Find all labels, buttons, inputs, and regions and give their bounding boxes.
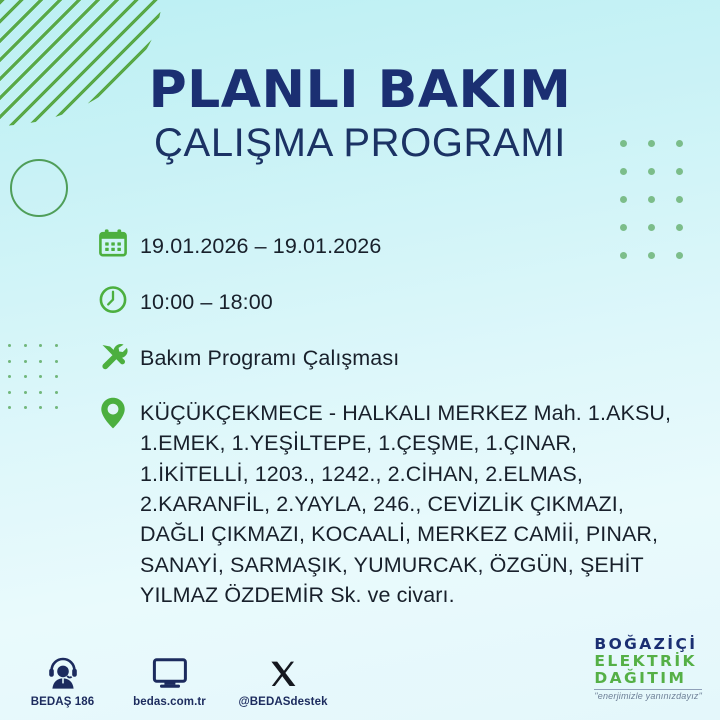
decoration-dot xyxy=(620,168,627,175)
contact-call-center[interactable]: BEDAŞ 186 xyxy=(26,651,99,708)
logo-line-dagitim: DAĞITIM xyxy=(594,670,702,687)
decoration-dot xyxy=(55,391,58,394)
decoration-dot xyxy=(8,375,11,378)
decoration-dot xyxy=(676,168,683,175)
circle-outline-decoration xyxy=(10,159,68,217)
page-title: PLANLI BAKIM xyxy=(0,64,720,117)
map-pin-icon xyxy=(98,396,140,436)
decoration-dot xyxy=(24,406,27,409)
decoration-dot xyxy=(8,391,11,394)
decoration-dot xyxy=(55,375,58,378)
decoration-dot xyxy=(24,344,27,347)
decoration-dot xyxy=(39,360,42,363)
headset-support-icon xyxy=(46,651,80,689)
logo-line-bogazici: BOĞAZİÇİ xyxy=(594,636,702,653)
page-subtitle: ÇALIŞMA PROGRAMI xyxy=(0,121,720,166)
logo-line-elektrik: ELEKTRİK xyxy=(594,653,702,670)
info-list: 19.01.2026 – 19.01.2026 10:00 – 18:00 xyxy=(98,228,686,610)
date-row: 19.01.2026 – 19.01.2026 xyxy=(98,228,686,268)
decoration-dot xyxy=(8,344,11,347)
work-type-row: Bakım Programı Çalışması xyxy=(98,340,686,380)
contact-website[interactable]: bedas.com.tr xyxy=(133,651,206,708)
planned-maintenance-poster: PLANLI BAKIM ÇALIŞMA PROGRAMI xyxy=(0,0,720,720)
dot-grid-decoration-left xyxy=(8,344,64,416)
decoration-dot xyxy=(39,406,42,409)
poster-header: PLANLI BAKIM ÇALIŞMA PROGRAMI xyxy=(0,64,720,166)
decoration-dot xyxy=(8,406,11,409)
decoration-dot xyxy=(39,375,42,378)
time-value: 10:00 – 18:00 xyxy=(140,284,686,318)
decoration-dot xyxy=(648,168,655,175)
monitor-icon xyxy=(152,651,188,689)
contact-x-twitter[interactable]: @BEDASdestek xyxy=(240,651,326,708)
contact-label: @BEDASdestek xyxy=(238,696,327,708)
decoration-dot xyxy=(620,196,627,203)
decoration-dot xyxy=(39,344,42,347)
decoration-dot xyxy=(8,360,11,363)
logo-slogan: "enerjimizle yanınızdayız" xyxy=(594,689,702,702)
decoration-dot xyxy=(55,344,58,347)
footer-contacts: BEDAŞ 186 bedas.com.tr @BEDASdestek xyxy=(26,651,326,708)
clock-icon xyxy=(98,284,140,324)
tools-icon xyxy=(98,340,140,380)
decoration-dot xyxy=(676,196,683,203)
decoration-dot xyxy=(24,360,27,363)
time-row: 10:00 – 18:00 xyxy=(98,284,686,324)
contact-label: BEDAŞ 186 xyxy=(31,696,95,708)
work-type-value: Bakım Programı Çalışması xyxy=(140,340,686,374)
bedas-logo: BOĞAZİÇİ ELEKTRİK DAĞITIM "enerjimizle y… xyxy=(594,636,702,702)
location-row: KÜÇÜKÇEKMECE - HALKALI MERKEZ Mah. 1.AKS… xyxy=(98,396,686,610)
decoration-dot xyxy=(55,406,58,409)
contact-label: bedas.com.tr xyxy=(133,696,206,708)
location-value: KÜÇÜKÇEKMECE - HALKALI MERKEZ Mah. 1.AKS… xyxy=(140,396,686,610)
decoration-dot xyxy=(55,360,58,363)
x-twitter-icon xyxy=(268,651,298,689)
decoration-dot xyxy=(24,375,27,378)
calendar-icon xyxy=(98,228,140,268)
decoration-dot xyxy=(648,196,655,203)
decoration-dot xyxy=(24,391,27,394)
date-value: 19.01.2026 – 19.01.2026 xyxy=(140,228,686,262)
decoration-dot xyxy=(39,391,42,394)
